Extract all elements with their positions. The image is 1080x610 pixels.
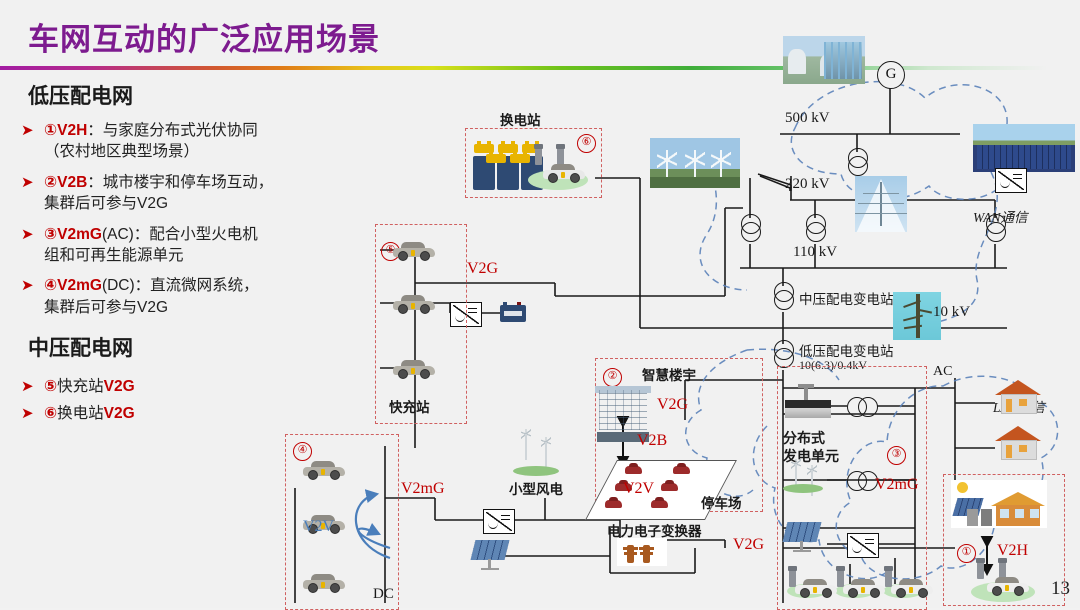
list-item: ➤ ⑤快充站V2G [44,376,388,397]
thermal-genset-icon [785,394,831,420]
section-heading-lv: 低压配电网 [28,80,400,110]
parked-car-icon [661,483,678,491]
transformer-220-110-a [806,214,824,240]
inverter-dc-microgrid [483,509,515,534]
house-icon [995,426,1041,458]
item-keyword: V2G [104,378,135,395]
bus-label-220kv: 220 kV [785,176,830,193]
item-keyword: V2mG [57,226,102,243]
item-text: 换电站 [57,405,104,422]
list-item: ➤ ③V2mG(AC)：配合小型火电机 组和可再生能源单元 [44,224,388,267]
bullet-list-lv: ➤ ①V2H：与家庭分布式光伏协同 （农村地区典型场景） ➤ ②V2B：城市楼宇… [0,120,400,318]
fast-charge-label: 快充站 [389,396,430,416]
grid-architecture-diagram: G 500 kV 220 kV 110 kV 10 kV 中压配电变电站 低压配… [395,28,1080,608]
item-continuation: 组和可再生能源单元 [44,245,388,266]
zone-number-2: ② [603,368,622,387]
item-keyword: V2H [57,122,87,139]
item-number: ⑤ [44,378,57,395]
ev-car-icon [795,578,837,598]
house-icon [995,380,1041,412]
pv-panel-icon [473,540,507,570]
power-converter-label: 电力电子变换器 [607,520,702,540]
item-text: ：城市楼宇和停车场互动， [87,174,273,191]
dc-bus-label: DC [373,586,394,603]
power-electronic-converter-icon [617,538,667,566]
wan-comm-label: WAN通信 [973,206,1028,226]
page-title: 车网互动的广泛应用场景 [28,14,380,59]
bullet-arrow-icon: ➤ [21,404,34,425]
grass-patch [783,484,823,493]
bullet-arrow-icon: ➤ [21,377,34,398]
parked-car-icon [625,466,642,474]
ev-car-icon [303,573,345,593]
charging-post-icon [977,562,984,579]
ev-car-icon [987,576,1029,596]
zone-number-4: ④ [293,442,312,461]
list-item: ➤ ①V2H：与家庭分布式光伏协同 （农村地区典型场景） [44,120,388,163]
transformer-lv-substation [774,340,792,366]
battery-storage-icon [500,305,526,322]
v2v-label-parking: V2V [623,480,654,498]
v2v-label-dc: V2V [303,518,334,536]
ev-car-icon [393,241,435,261]
item-number: ⑥ [44,405,57,422]
mv-substation-label: 中压配电变电站 [799,288,894,308]
grass-patch [513,466,559,476]
ev-car-icon [891,578,933,598]
lv-substation-label: 低压配电变电站 [799,340,894,360]
item-text: ：与家庭分布式光伏协同 [87,122,258,139]
item-number: ① [44,122,57,139]
parking-lot-label: 停车场 [701,492,742,512]
parked-car-icon [651,500,668,508]
thermal-power-plant-photo [783,36,865,84]
item-text: (DC)：直流微网系统， [102,277,259,294]
wind-farm-photo [650,138,740,188]
page-number: 13 [1051,578,1070,600]
bullet-arrow-icon: ➤ [21,276,34,297]
swap-station-label: 换电站 [500,109,541,129]
item-number: ② [44,174,57,191]
small-wind-label: 小型风电 [509,478,563,498]
v2g-label-fastcharge: V2G [467,260,498,278]
generator-symbol: G [877,61,905,89]
item-text: (AC)：配合小型火电机 [102,226,258,243]
zone-number-1: ① [957,544,976,563]
transformer-mv-substation [774,282,792,308]
parked-car-icon [605,500,622,508]
item-keyword: V2B [57,174,87,191]
item-continuation: 集群后可参与V2G [44,193,388,214]
ac-label: AC [933,364,952,380]
bus-label-10kv: 10 kV [933,304,970,321]
list-item: ➤ ④V2mG(DC)：直流微网系统， 集群后可参与V2G [44,275,388,318]
item-continuation: 集群后可参与V2G [44,297,388,318]
charging-post-icon [535,148,542,165]
section-heading-mv: 中压配电网 [28,332,400,362]
ev-car-icon [393,294,435,314]
item-keyword: V2mG [57,277,102,294]
solar-farm-photo [973,124,1075,172]
smart-building-label: 智慧楼宇 [642,364,696,384]
item-keyword: V2G [104,405,135,422]
v2b-label: V2B [637,432,667,450]
rural-pv-house-icon [951,480,1047,528]
bus-label-110kv: 110 kV [793,244,837,261]
zone-number-6: ⑥ [577,134,596,153]
v2mg-label-dc: V2mG [401,480,445,498]
ev-car-icon [303,460,345,480]
wind-turbine-icon [537,434,555,468]
bullet-arrow-icon: ➤ [21,173,34,194]
transformer-wind-110 [741,214,759,240]
slide-canvas: 车网互动的广泛应用场景 低压配电网 ➤ ①V2H：与家庭分布式光伏协同 （农村地… [0,0,1080,608]
item-number: ③ [44,226,57,243]
bullet-arrow-icon: ➤ [21,225,34,246]
item-text: 快充站 [57,378,104,395]
zone-number-3: ③ [887,446,906,465]
v2g-label-building: V2G [657,396,688,414]
transformer-500-220 [848,148,866,174]
bullet-list-mv: ➤ ⑤快充站V2G ➤ ⑥换电站V2G [0,376,400,425]
v2g-label-converter: V2G [733,536,764,554]
inverter-solar-farm [995,168,1027,193]
transmission-tower-photo [855,176,907,232]
ev-car-icon [843,578,885,598]
dg-unit-label-line1: 分布式 [783,428,825,448]
ev-car-icon [543,163,585,183]
pv-panel-icon [785,522,819,552]
list-item: ➤ ②V2B：城市楼宇和停车场互动， 集群后可参与V2G [44,172,388,215]
v2mg-label-dg: V2mG [875,476,919,494]
item-continuation: （农村地区典型场景） [44,141,388,162]
parked-car-icon [673,466,690,474]
item-number: ④ [44,277,57,294]
list-item: ➤ ⑥换电站V2G [44,403,388,424]
bus-label-500kv: 500 kV [785,110,830,127]
ev-car-icon [393,359,435,379]
bullet-arrow-icon: ➤ [21,121,34,142]
